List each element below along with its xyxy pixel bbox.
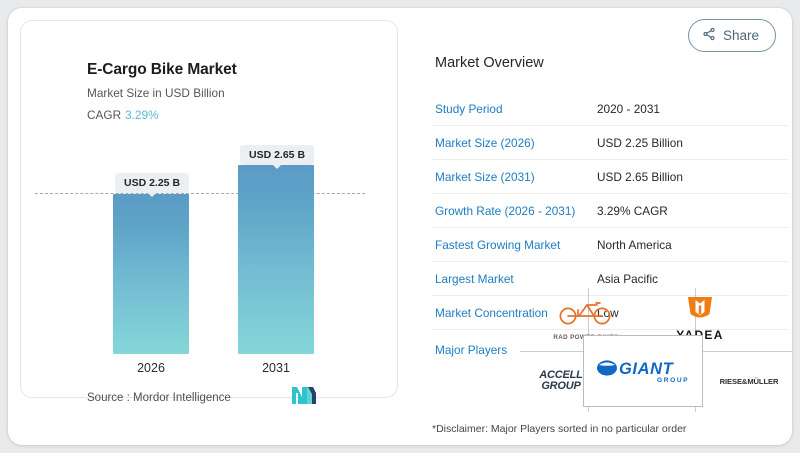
- table-row: Study Period 2020 - 2031: [432, 92, 788, 126]
- bar-value-label-2031: USD 2.65 B: [240, 145, 314, 165]
- row-value: 3.29% CAGR: [597, 194, 788, 228]
- table-row: Market Size (2026) USD 2.25 Billion: [432, 126, 788, 160]
- bar-2026[interactable]: [113, 194, 189, 354]
- disclaimer-text: *Disclaimer: Major Players sorted in no …: [432, 423, 686, 435]
- row-key: Market Size (2031): [432, 160, 597, 194]
- rad-power-bikes-logo: [556, 298, 616, 331]
- row-value: USD 2.65 Billion: [597, 160, 788, 194]
- share-button[interactable]: Share: [688, 19, 776, 52]
- svg-text:GROUP: GROUP: [657, 377, 689, 384]
- giant-group-logo: GIANT GROUP: [595, 354, 691, 389]
- overview-title: Market Overview: [435, 55, 544, 71]
- table-row: Fastest Growing Market North America: [432, 228, 788, 262]
- source-prefix: Source :: [87, 392, 130, 404]
- x-axis-label-2031: 2031: [238, 361, 314, 375]
- svg-text:GIANT: GIANT: [619, 360, 675, 378]
- accell-group-logo: ACCELL GROUP: [539, 370, 582, 392]
- source-name: Mordor Intelligence: [133, 392, 231, 404]
- player-giant-group[interactable]: GIANT GROUP: [583, 335, 703, 407]
- riese-muller-logo: RIESE&MÜLLER: [720, 377, 779, 386]
- chart-card: E-Cargo Bike Market Market Size in USD B…: [20, 20, 398, 398]
- row-key: Study Period: [432, 92, 597, 126]
- source-row: Source : Mordor Intelligence: [87, 386, 317, 410]
- row-key: Market Size (2026): [432, 126, 597, 160]
- x-axis-label-2026: 2026: [113, 361, 189, 375]
- table-row: Market Size (2031) USD 2.65 Billion: [432, 160, 788, 194]
- report-card: Share E-Cargo Bike Market Market Size in…: [8, 8, 792, 445]
- bar-chart-plot: USD 2.25 B USD 2.65 B 2026 2031: [21, 21, 399, 399]
- yadea-logo: [685, 294, 715, 327]
- table-row: Growth Rate (2026 - 2031) 3.29% CAGR: [432, 194, 788, 228]
- source-text: Source : Mordor Intelligence: [87, 392, 231, 404]
- player-riese-muller[interactable]: RIESE&MÜLLER: [706, 354, 792, 408]
- row-value: USD 2.25 Billion: [597, 126, 788, 160]
- row-value: 2020 - 2031: [597, 92, 788, 126]
- row-value: North America: [597, 228, 788, 262]
- share-nodes-icon: [702, 27, 716, 44]
- share-button-label: Share: [723, 29, 759, 43]
- bar-2031[interactable]: [238, 165, 314, 354]
- row-key: Fastest Growing Market: [432, 228, 597, 262]
- reference-line: [35, 193, 365, 194]
- bar-value-label-2026: USD 2.25 B: [115, 173, 189, 193]
- accell-line-2: GROUP: [539, 381, 582, 392]
- row-key: Growth Rate (2026 - 2031): [432, 194, 597, 228]
- major-players-grid: RAD POWER BIKES YADEA ACCELL GROUP: [520, 288, 792, 412]
- mordor-intelligence-logo: [291, 386, 317, 410]
